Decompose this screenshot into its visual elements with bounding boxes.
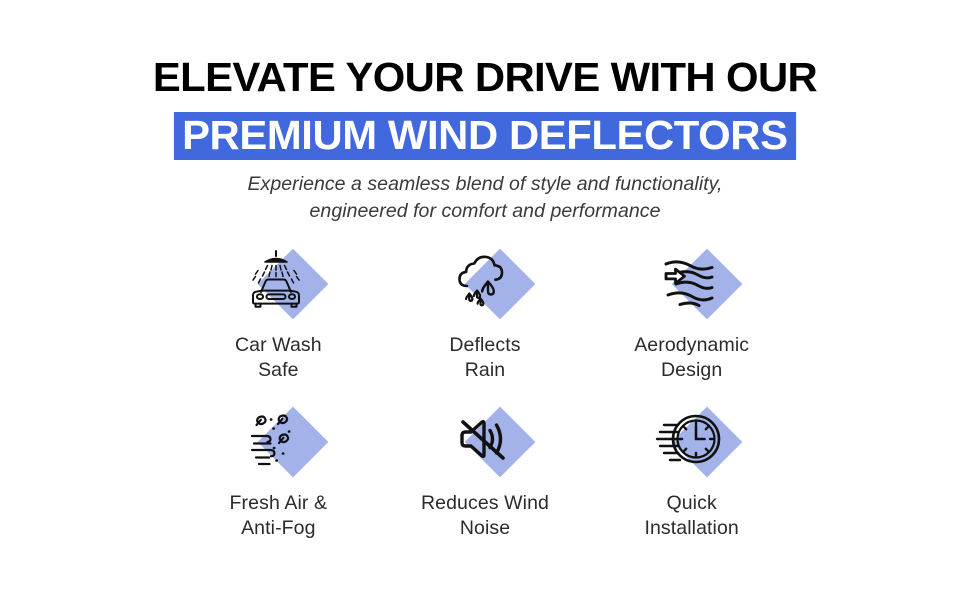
feature-item-reduces-wind-noise: Reduces Wind Noise [382, 401, 589, 559]
subtitle-line-1: Experience a seamless blend of style and… [0, 171, 970, 198]
car-wash-icon [240, 245, 312, 317]
feature-item-deflects-rain: Deflects Rain [382, 243, 589, 401]
feature-label-line-1: Deflects [449, 333, 520, 358]
feature-item-car-wash-safe: Car Wash Safe [175, 243, 382, 401]
feature-label: Deflects Rain [449, 333, 520, 383]
subtitle: Experience a seamless blend of style and… [0, 171, 970, 225]
feature-label-line-1: Quick [644, 491, 738, 516]
feature-item-quick-installation: Quick Installation [588, 401, 795, 559]
feature-label-line-1: Car Wash [235, 333, 322, 358]
feature-label: Quick Installation [644, 491, 738, 541]
icon-stage [226, 243, 330, 323]
icon-stage [640, 243, 744, 323]
icon-stage [226, 401, 330, 481]
feature-label: Car Wash Safe [235, 333, 322, 383]
airflow-arrow-icon [654, 245, 726, 317]
feature-item-fresh-air-anti-fog: Fresh Air & Anti-Fog [175, 401, 382, 559]
feature-label: Aerodynamic Design [634, 333, 749, 383]
feature-label-line-2: Safe [235, 358, 322, 383]
feature-label-line-2: Rain [449, 358, 520, 383]
headline-line-2-highlighted: PREMIUM WIND DEFLECTORS [174, 112, 796, 160]
feature-label-line-1: Reduces Wind [421, 491, 549, 516]
icon-stage [640, 401, 744, 481]
leaf-breeze-icon [240, 403, 312, 475]
headline-highlight-wrap: PREMIUM WIND DEFLECTORS [0, 112, 970, 160]
promo-banner: ELEVATE YOUR DRIVE WITH OUR PREMIUM WIND… [0, 0, 970, 600]
icon-stage [433, 401, 537, 481]
subtitle-line-2: engineered for comfort and performance [0, 198, 970, 225]
feature-grid: Car Wash Safe [175, 243, 795, 559]
feature-label: Reduces Wind Noise [421, 491, 549, 541]
fast-clock-icon [654, 403, 726, 475]
muted-speaker-icon [447, 403, 519, 475]
feature-label-line-1: Fresh Air & [230, 491, 328, 516]
feature-label-line-1: Aerodynamic [634, 333, 749, 358]
headline-line-1: ELEVATE YOUR DRIVE WITH OUR [0, 54, 970, 100]
headline: ELEVATE YOUR DRIVE WITH OUR PREMIUM WIND… [0, 54, 970, 160]
feature-label-line-2: Anti-Fog [230, 516, 328, 541]
feature-item-aerodynamic-design: Aerodynamic Design [588, 243, 795, 401]
feature-label: Fresh Air & Anti-Fog [230, 491, 328, 541]
rain-cloud-icon [447, 245, 519, 317]
feature-label-line-2: Design [634, 358, 749, 383]
feature-label-line-2: Noise [421, 516, 549, 541]
icon-stage [433, 243, 537, 323]
feature-label-line-2: Installation [644, 516, 738, 541]
